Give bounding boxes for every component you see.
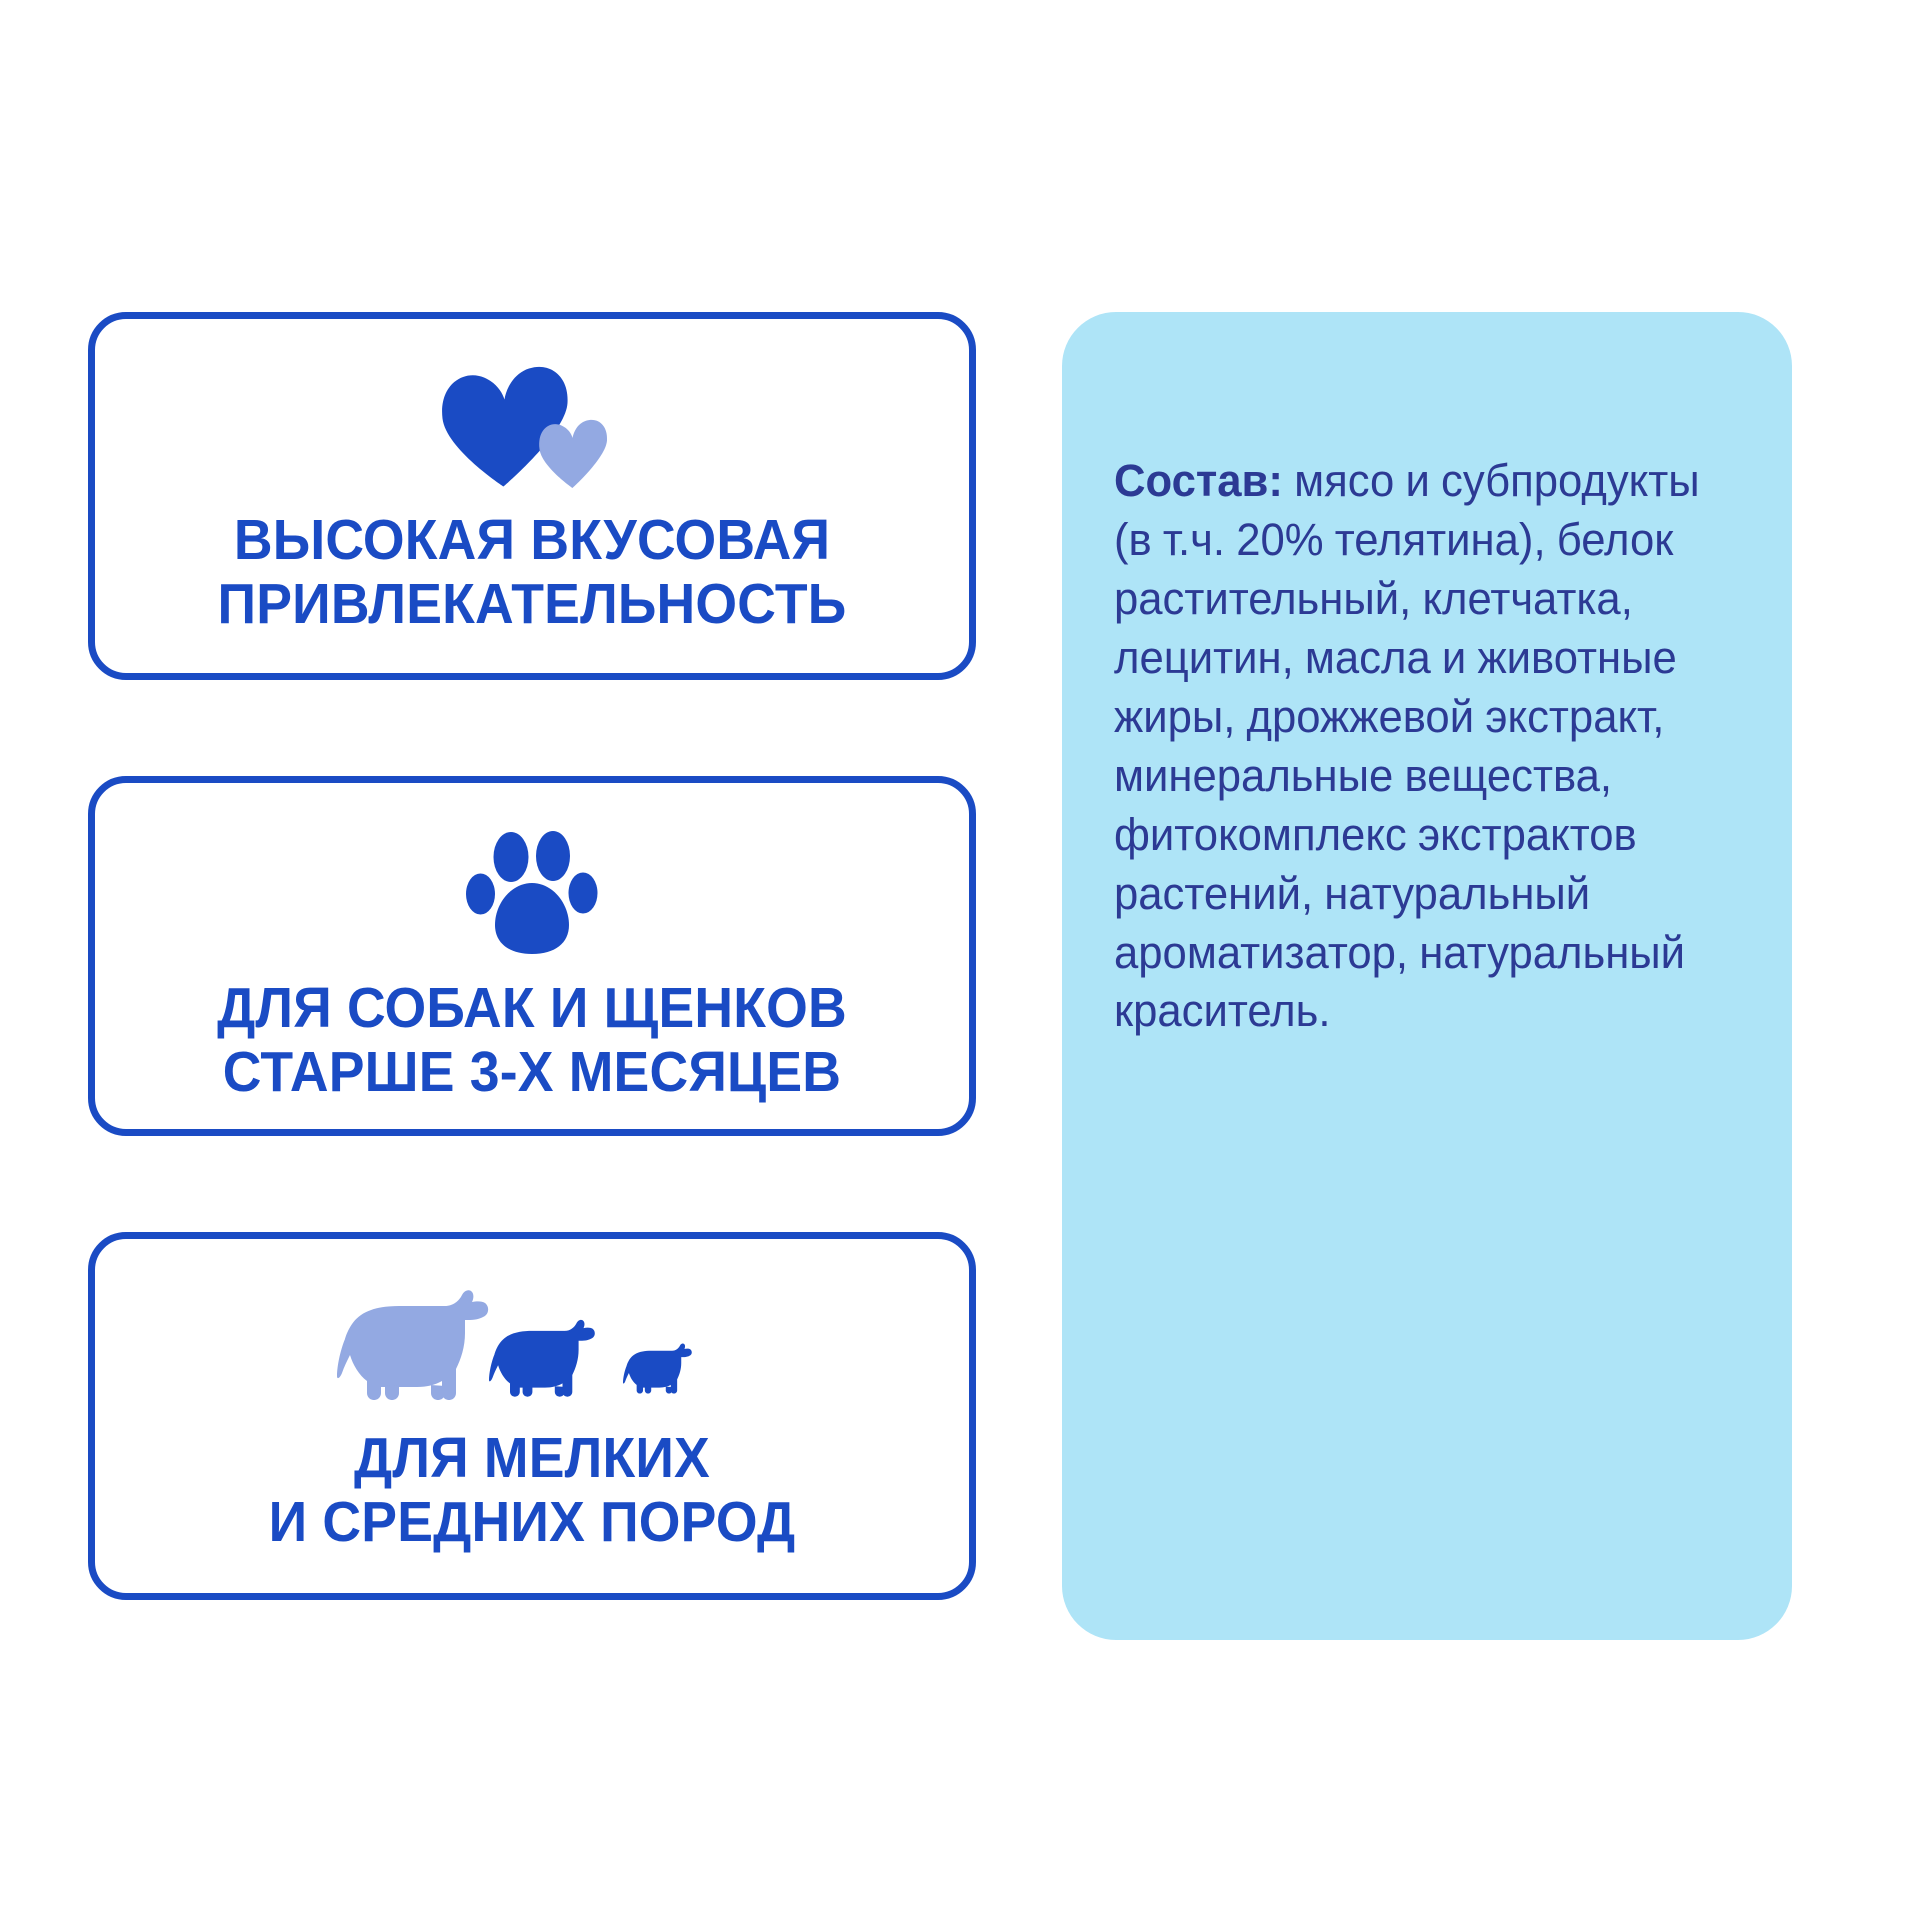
feature-cards-column: ВЫСОКАЯ ВКУСОВАЯ ПРИВЛЕКАТЕЛЬНОСТЬ ДЛЯ С… (88, 312, 976, 1600)
feature-card-title: ДЛЯ СОБАК И ЩЕНКОВ СТАРШЕ 3-Х МЕСЯЦЕВ (121, 977, 943, 1105)
medium-dog-silhouette (489, 1320, 595, 1397)
feature-card-small-medium-breeds: ДЛЯ МЕЛКИХ И СРЕДНИХ ПОРОД (88, 1232, 976, 1600)
ingredients-text: Состав: мясо и субпродукты (в т.ч. 20% т… (1114, 452, 1727, 1041)
product-feature-page: ВЫСОКАЯ ВКУСОВАЯ ПРИВЛЕКАТЕЛЬНОСТЬ ДЛЯ С… (0, 0, 1920, 1920)
two-hearts-icon (95, 361, 969, 489)
feature-card-title: ВЫСОКАЯ ВКУСОВАЯ ПРИВЛЕКАТЕЛЬНОСТЬ (121, 509, 943, 637)
ingredients-body: мясо и субпродукты (в т.ч. 20% телятина)… (1114, 455, 1700, 1036)
ingredients-label: Состав: (1114, 455, 1283, 506)
ingredients-panel: Состав: мясо и субпродукты (в т.ч. 20% т… (1062, 312, 1792, 1640)
three-dog-sizes-icon (95, 1285, 969, 1401)
paw-print-icon (95, 823, 969, 955)
feature-card-title: ДЛЯ МЕЛКИХ И СРЕДНИХ ПОРОД (121, 1427, 943, 1555)
feature-card-taste-appeal: ВЫСОКАЯ ВКУСОВАЯ ПРИВЛЕКАТЕЛЬНОСТЬ (88, 312, 976, 680)
small-dog-silhouette (623, 1344, 692, 1394)
feature-card-dogs-and-puppies: ДЛЯ СОБАК И ЩЕНКОВ СТАРШЕ 3-Х МЕСЯЦЕВ (88, 776, 976, 1136)
large-dog-silhouette (337, 1290, 488, 1400)
